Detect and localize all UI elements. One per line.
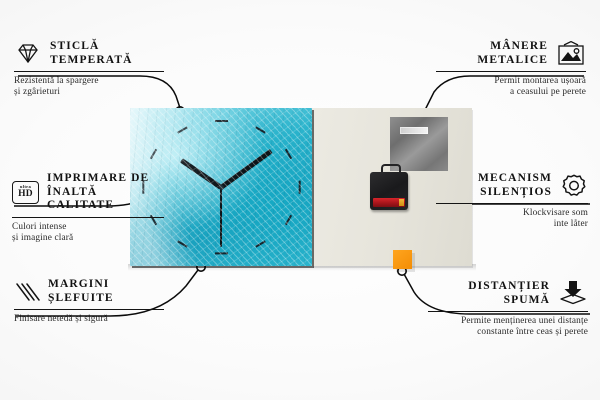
hour-marker	[285, 215, 292, 226]
feature-title-line2: TEMPERATĂ	[50, 54, 133, 68]
gear-icon	[560, 173, 588, 199]
feature-high-quality-print: ultra HD IMPRIMARE DE ÎNALTĂ CALITATE Cu…	[12, 172, 164, 244]
minute-hand	[220, 149, 273, 189]
feature-title-line2: ÎNALTĂ CALITATE	[47, 186, 164, 213]
feature-divider	[436, 71, 586, 72]
feature-title-line1: STICLĂ	[50, 40, 133, 54]
quartz-movement	[370, 172, 408, 210]
feature-divider	[14, 309, 164, 310]
feature-desc-line1: Klockvisare som	[436, 208, 588, 219]
hour-marker	[150, 149, 157, 160]
polished-edges-icon	[14, 281, 40, 303]
feature-desc-line1: Permite menținerea unei distanțe	[428, 316, 588, 327]
hour-marker	[255, 126, 266, 133]
hour-marker	[177, 241, 188, 248]
diamond-icon	[14, 42, 42, 65]
feature-polished-edges: MARGINI ȘLEFUITE Finisare netedă și sigu…	[14, 278, 164, 325]
feature-desc-line2: a ceasului pe perete	[436, 87, 586, 98]
infographic-canvas: STICLĂ TEMPERATĂ Rezistentă la spargere …	[0, 0, 600, 400]
feature-title-line1: MECANISM	[478, 172, 552, 186]
framed-picture-hanger-icon	[556, 41, 586, 67]
feature-desc-line1: Culori intense	[12, 222, 164, 233]
feature-desc-line1: Finisare netedă și sigură	[14, 314, 164, 325]
foam-spacer-pad	[393, 250, 412, 269]
feature-title-line2: SPUMĂ	[468, 294, 550, 308]
second-hand	[220, 187, 222, 247]
hour-marker	[298, 181, 300, 194]
feature-title-line1: MÂNERE	[477, 40, 548, 54]
ultra-hd-large-text: HD	[18, 190, 33, 200]
feature-divider	[428, 311, 588, 312]
feature-title-line1: IMPRIMARE DE	[47, 172, 164, 186]
feature-divider	[12, 217, 164, 218]
feature-silent-mechanism: MECANISM SILENȚIOS Klockvisare som inte …	[436, 172, 588, 231]
hour-marker	[177, 126, 188, 133]
feature-divider	[14, 71, 164, 72]
feature-desc-line2: și zgârieturi	[14, 87, 164, 98]
feature-title-line1: MARGINI	[48, 278, 114, 292]
feature-title-line1: DISTANȚIER	[468, 280, 550, 294]
feature-divider	[436, 203, 588, 204]
feature-metal-handles: MÂNERE METALICE Permit montarea ușoară a…	[436, 40, 586, 99]
feature-desc-line2: constante între ceas și perete	[428, 327, 588, 338]
metal-hanger-plate	[390, 117, 448, 171]
feature-desc-line1: Permit montarea ușoară	[436, 76, 586, 87]
hour-marker	[215, 120, 228, 122]
hour-marker	[215, 252, 228, 254]
feature-desc-line1: Rezistentă la spargere	[14, 76, 164, 87]
feature-title-line2: SILENȚIOS	[478, 186, 552, 200]
hour-hand	[180, 158, 222, 189]
clock-hub	[219, 185, 224, 190]
aa-battery	[373, 198, 405, 207]
feature-tempered-glass: STICLĂ TEMPERATĂ Rezistentă la spargere …	[14, 40, 164, 99]
feature-title-line2: ȘLEFUITE	[48, 292, 114, 306]
feature-title-line2: METALICE	[477, 54, 548, 68]
feature-desc-line2: și imagine clară	[12, 233, 164, 244]
down-arrow-foam-icon	[558, 280, 588, 307]
ultra-hd-icon: ultra HD	[12, 181, 39, 204]
hour-marker	[285, 149, 292, 160]
feature-desc-line2: inte låter	[436, 219, 588, 230]
feature-foam-spacer: DISTANȚIER SPUMĂ Permite menținerea unei…	[428, 280, 588, 339]
hour-marker	[255, 241, 266, 248]
